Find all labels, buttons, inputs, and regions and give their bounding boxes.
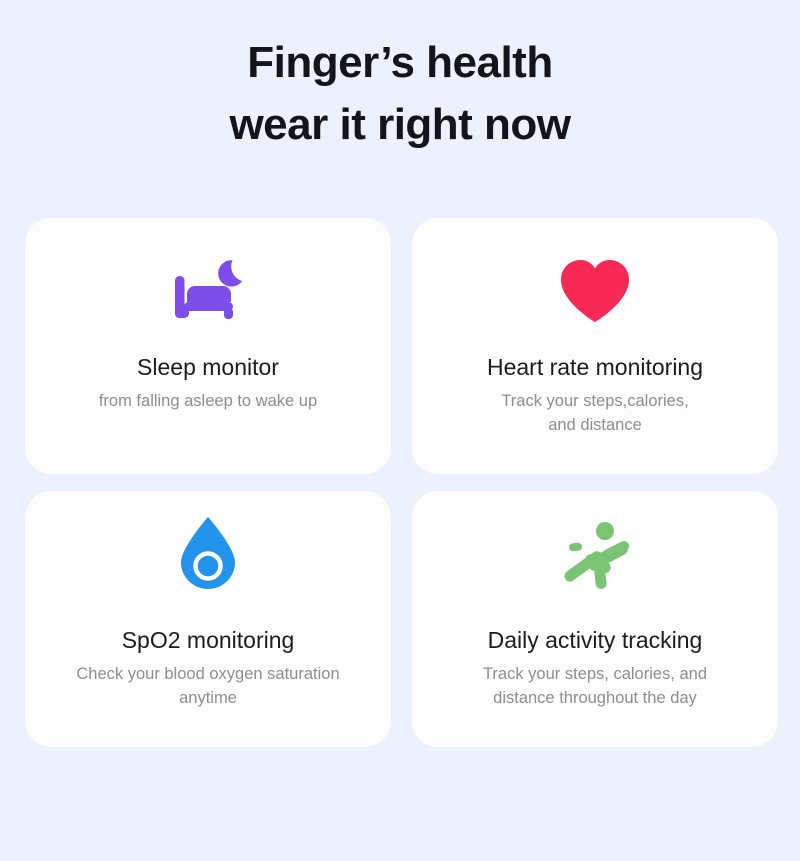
water-drop-badge-label: 2 bbox=[202, 557, 213, 579]
water-drop-o2-icon: 2 bbox=[177, 515, 239, 593]
feature-card-description: from falling asleep to wake up bbox=[73, 389, 343, 413]
feature-card-grid: Sleep monitor from falling asleep to wak… bbox=[25, 218, 778, 747]
bed-moon-icon bbox=[169, 252, 247, 330]
heart-icon bbox=[558, 252, 632, 330]
feature-card-title: Sleep monitor bbox=[127, 352, 289, 382]
feature-card-title: SpO2 monitoring bbox=[112, 625, 305, 655]
feature-card-heart-rate[interactable]: Heart rate monitoring Track your steps,c… bbox=[412, 218, 778, 474]
feature-card-sleep-monitor[interactable]: Sleep monitor from falling asleep to wak… bbox=[25, 218, 391, 474]
feature-card-spo2[interactable]: 2 SpO2 monitoring Check your blood oxyge… bbox=[25, 491, 391, 747]
promo-page: Finger’s health wear it right now bbox=[0, 0, 800, 861]
running-person-icon bbox=[555, 515, 635, 593]
feature-card-title: Daily activity tracking bbox=[478, 625, 713, 655]
page-title-line-2: wear it right now bbox=[0, 94, 800, 156]
feature-card-description: Track your steps,calories, and distance bbox=[475, 389, 714, 437]
feature-card-description: Check your blood oxygen saturation anyti… bbox=[50, 662, 365, 710]
feature-card-daily-activity[interactable]: Daily activity tracking Track your steps… bbox=[412, 491, 778, 747]
page-title: Finger’s health wear it right now bbox=[0, 32, 800, 156]
feature-card-title: Heart rate monitoring bbox=[477, 352, 713, 382]
page-title-line-1: Finger’s health bbox=[0, 32, 800, 94]
feature-card-description: Track your steps, calories, and distance… bbox=[457, 662, 733, 710]
